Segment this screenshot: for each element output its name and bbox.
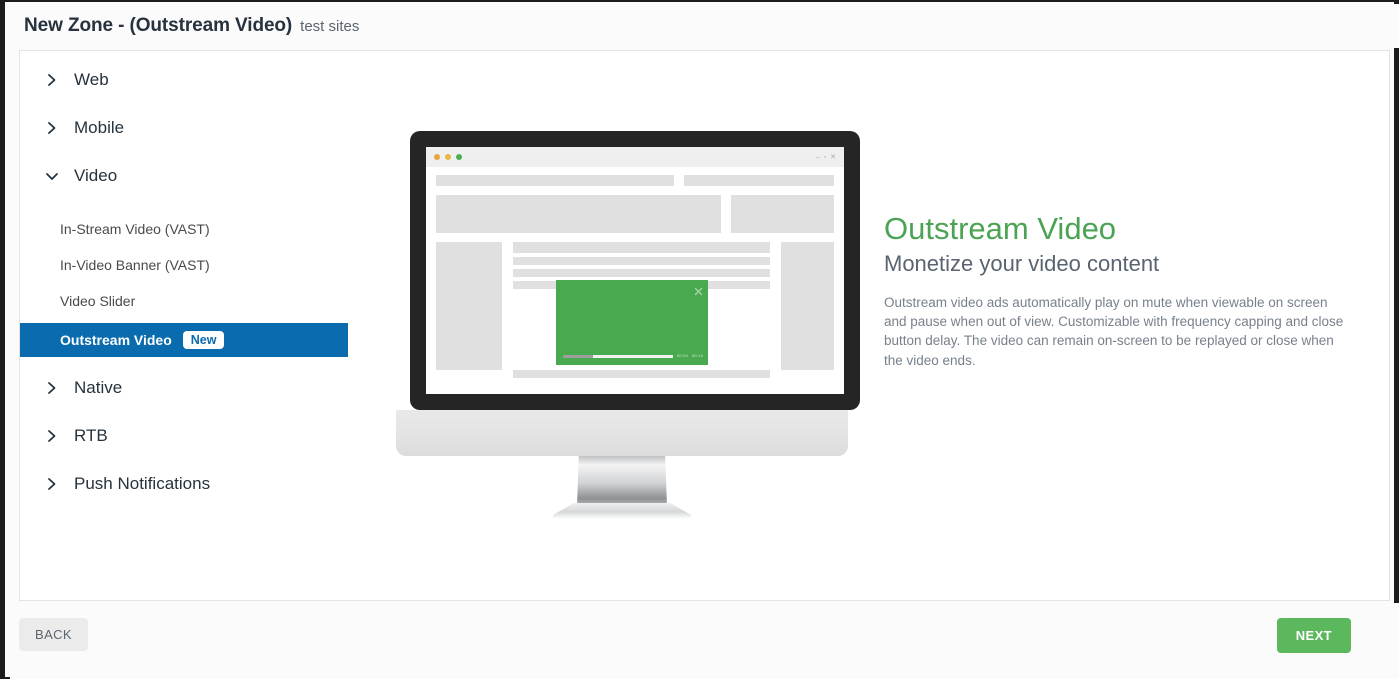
status-badge-new: New	[183, 331, 225, 350]
chevron-down-icon	[44, 168, 60, 184]
sidebar-group-label: Mobile	[74, 118, 124, 138]
chevron-right-icon	[44, 72, 60, 88]
app-window: New Zone - (Outstream Video) test sites …	[0, 0, 1399, 679]
mock-placeholder-block	[436, 195, 721, 233]
ad-close-icon[interactable]	[694, 283, 703, 292]
chevron-right-icon	[44, 380, 60, 396]
outstream-video-illustration: – ▫ ✕	[396, 131, 848, 511]
mock-placeholder-block	[436, 242, 502, 370]
sidebar-item-label: In-Video Banner (VAST)	[60, 257, 210, 273]
sidebar-group-web[interactable]: Web	[20, 65, 350, 95]
page-subtitle: test sites	[300, 18, 359, 35]
sidebar-item-label: In-Stream Video (VAST)	[60, 221, 210, 237]
chevron-right-icon	[44, 120, 60, 136]
browser-dot-icon	[434, 154, 440, 160]
content-subtitle: Monetize your video content	[884, 251, 1354, 277]
main-panel: Web Mobile Video In-Stream Video (VAST) …	[19, 50, 1390, 601]
sidebar-item-video-slider[interactable]: Video Slider	[20, 287, 350, 314]
sidebar-group-video[interactable]: Video	[20, 161, 350, 191]
video-time-total: 00:15	[692, 354, 703, 358]
sidebar-group-label: Video	[74, 166, 117, 186]
sidebar-item-in-stream-video[interactable]: In-Stream Video (VAST)	[20, 215, 350, 242]
sidebar-group-label: Native	[74, 378, 122, 398]
mock-row-hero	[436, 195, 834, 233]
mock-row-body: 00:04 00:15	[436, 242, 834, 382]
mock-article-column: 00:04 00:15	[513, 242, 770, 382]
sidebar-group-mobile[interactable]: Mobile	[20, 113, 350, 143]
sidebar-item-label: Video Slider	[60, 293, 135, 309]
browser-dot-icon	[445, 154, 451, 160]
outstream-video-ad-unit[interactable]: 00:04 00:15	[556, 280, 708, 365]
browser-dot-icon	[456, 154, 462, 160]
next-button[interactable]: NEXT	[1277, 618, 1351, 653]
mock-text-line	[513, 257, 770, 265]
sidebar-item-outstream-video[interactable]: Outstream Video New	[20, 323, 348, 357]
video-progress-bar[interactable]	[563, 355, 673, 358]
mock-placeholder-block	[436, 175, 674, 186]
monitor-stand	[396, 410, 848, 511]
monitor-neck	[577, 456, 667, 506]
monitor-screen: – ▫ ✕	[426, 147, 844, 394]
sidebar-item-label: Outstream Video	[60, 332, 172, 348]
monitor-foot	[553, 503, 691, 519]
monitor-chin	[396, 410, 848, 456]
monitor-bezel-icon: – ▫ ✕	[410, 131, 860, 410]
sidebar-group-rtb[interactable]: RTB	[20, 421, 350, 451]
page-header: New Zone - (Outstream Video) test sites	[10, 4, 1399, 48]
browser-traffic-lights-icon	[434, 154, 462, 160]
sidebar-group-push-notifications[interactable]: Push Notifications	[20, 469, 350, 499]
chevron-right-icon	[44, 428, 60, 444]
video-time-current: 00:04	[677, 354, 688, 358]
maximize-icon: ▫	[824, 154, 826, 161]
mock-placeholder-block	[731, 195, 834, 233]
mock-text-line	[513, 269, 770, 277]
sidebar-item-in-video-banner[interactable]: In-Video Banner (VAST)	[20, 251, 350, 278]
zone-description-panel: Outstream Video Monetize your video cont…	[884, 211, 1354, 370]
mock-row-header	[436, 175, 834, 186]
mock-placeholder-block	[781, 242, 834, 370]
window-controls: – ▫ ✕	[816, 154, 836, 161]
mock-webpage: 00:04 00:15	[426, 167, 844, 394]
video-progress-fill	[593, 355, 673, 358]
sidebar-group-label: RTB	[74, 426, 108, 446]
zone-type-sidebar: Web Mobile Video In-Stream Video (VAST) …	[20, 51, 350, 600]
video-player-controls: 00:04 00:15	[563, 354, 703, 358]
close-icon: ✕	[830, 154, 836, 161]
mock-text-line	[513, 242, 770, 253]
content-description: Outstream video ads automatically play o…	[884, 293, 1348, 370]
wizard-footer: BACK NEXT	[10, 603, 1399, 679]
mock-placeholder-block	[684, 175, 834, 186]
page-title: New Zone - (Outstream Video)	[24, 15, 292, 37]
sidebar-group-native[interactable]: Native	[20, 373, 350, 403]
browser-titlebar: – ▫ ✕	[426, 147, 844, 167]
back-button[interactable]: BACK	[19, 618, 88, 651]
content-title: Outstream Video	[884, 211, 1354, 247]
minimize-icon: –	[816, 154, 820, 161]
chevron-right-icon	[44, 476, 60, 492]
mock-text-line	[513, 370, 770, 378]
sidebar-group-label: Web	[74, 70, 109, 90]
sidebar-group-label: Push Notifications	[74, 474, 210, 494]
